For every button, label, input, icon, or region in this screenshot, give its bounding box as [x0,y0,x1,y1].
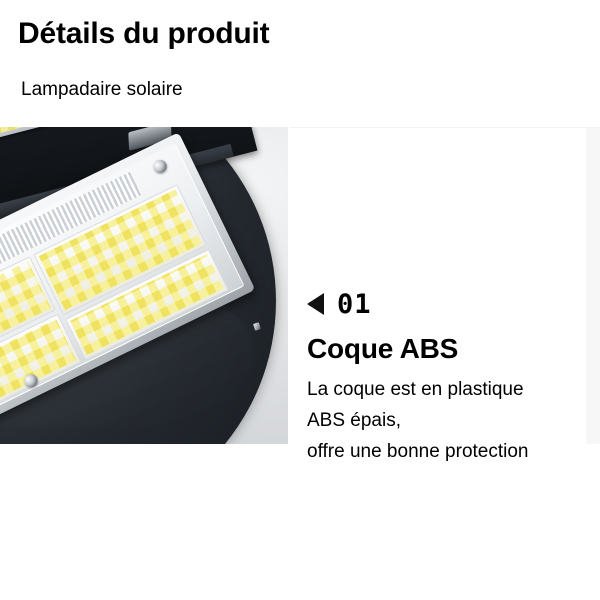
step-badge: 01 [307,287,582,321]
section-divider [290,127,600,128]
description-line: offre une bonne protection [307,436,582,467]
product-photo [0,127,288,444]
feature-description: La coque est en plastique ABS épais, off… [307,374,582,467]
triangle-left-icon [307,293,324,315]
description-line: ABS épais, [307,405,582,436]
product-subtitle: Lampadaire solaire [21,79,183,102]
right-edge-strip [586,128,600,444]
step-number: 01 [337,291,372,318]
detail-section: 01 Coque ABS La coque est en plastique A… [0,127,600,444]
feature-heading: Coque ABS [307,333,582,365]
page-title: Détails du produit [18,17,269,50]
feature-text-column: 01 Coque ABS La coque est en plastique A… [307,287,582,467]
description-line: La coque est en plastique [307,374,582,405]
